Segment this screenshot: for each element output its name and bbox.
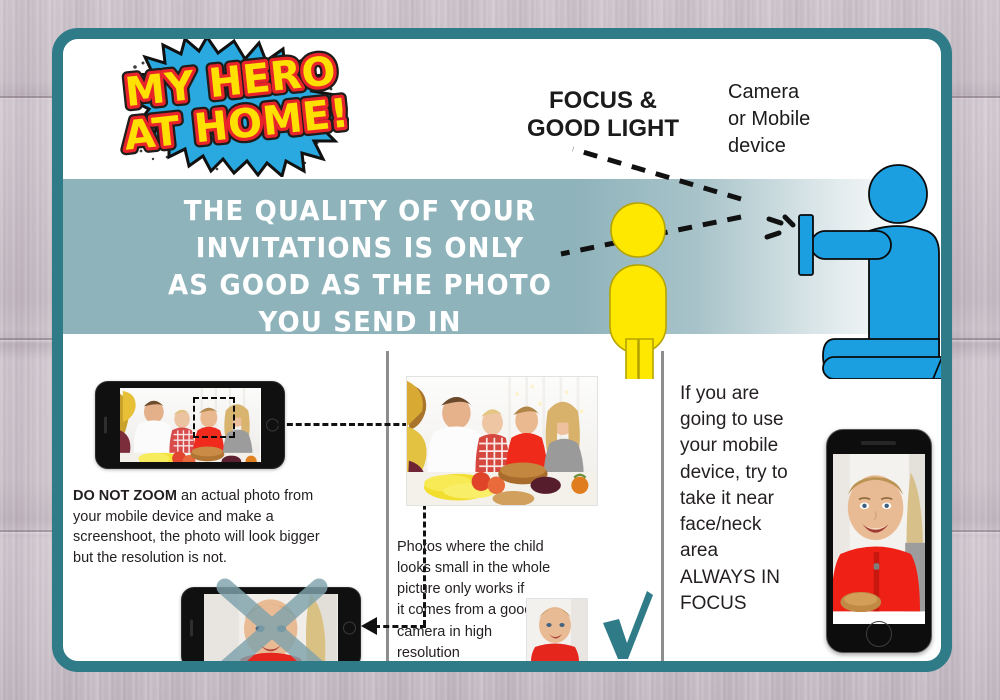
phone-home-button: [866, 621, 892, 647]
phone-speaker-icon: [104, 417, 107, 434]
boy-in-red-jacket-closeup-photo: [833, 454, 926, 611]
family-at-table-photo: [407, 377, 597, 505]
crop-selection-box: [193, 397, 235, 438]
do-not-zoom-text: DO NOT ZOOM an actual photo from your mo…: [73, 486, 323, 568]
phone-screen: [120, 388, 261, 462]
camera-or-mobile-device-label: Camera or Mobile device: [728, 79, 898, 160]
phone-vertical-boy-photo: [826, 429, 932, 653]
arrow-left-icon: [361, 617, 381, 635]
phone-screen: [833, 454, 926, 624]
panel-do-not-zoom: DO NOT ZOOM an actual photo from your mo…: [73, 351, 386, 671]
do-not-zoom-emphasis: DO NOT ZOOM: [73, 488, 177, 504]
my-hero-at-home-logo: MY HERO MY HERO MY HERO AT HOME! AT HOME…: [119, 37, 349, 177]
boy-thumbnail-photo: [527, 599, 587, 661]
check-mark-icon: [597, 589, 655, 661]
child-figure-yellow: [610, 203, 666, 379]
panel-whole-picture: Photos where the child looks small in th…: [389, 351, 661, 671]
phone-horizontal-family-photo: [95, 381, 285, 469]
family-photo-medium: [407, 377, 597, 505]
family-at-table-photo: [120, 388, 261, 462]
photographer-figure-blue: [799, 165, 941, 379]
focus-and-good-light-label: FOCUS & GOOD LIGHT: [503, 87, 703, 144]
flash-ticks-icon: [767, 217, 793, 237]
sightline-dashed-upper: [573, 149, 741, 199]
mobile-device-focus-text: If you are going to use your mobile devi…: [680, 381, 820, 617]
x-mark-icon: [173, 575, 369, 672]
infographic-card: THE QUALITY OF YOUR INVITATIONS IS ONLY …: [52, 28, 952, 672]
phone-speaker-icon: [862, 441, 896, 445]
panel-mobile-device-focus: If you are going to use your mobile devi…: [664, 351, 941, 671]
boy-in-red-jacket-thumbnail: [527, 599, 587, 661]
